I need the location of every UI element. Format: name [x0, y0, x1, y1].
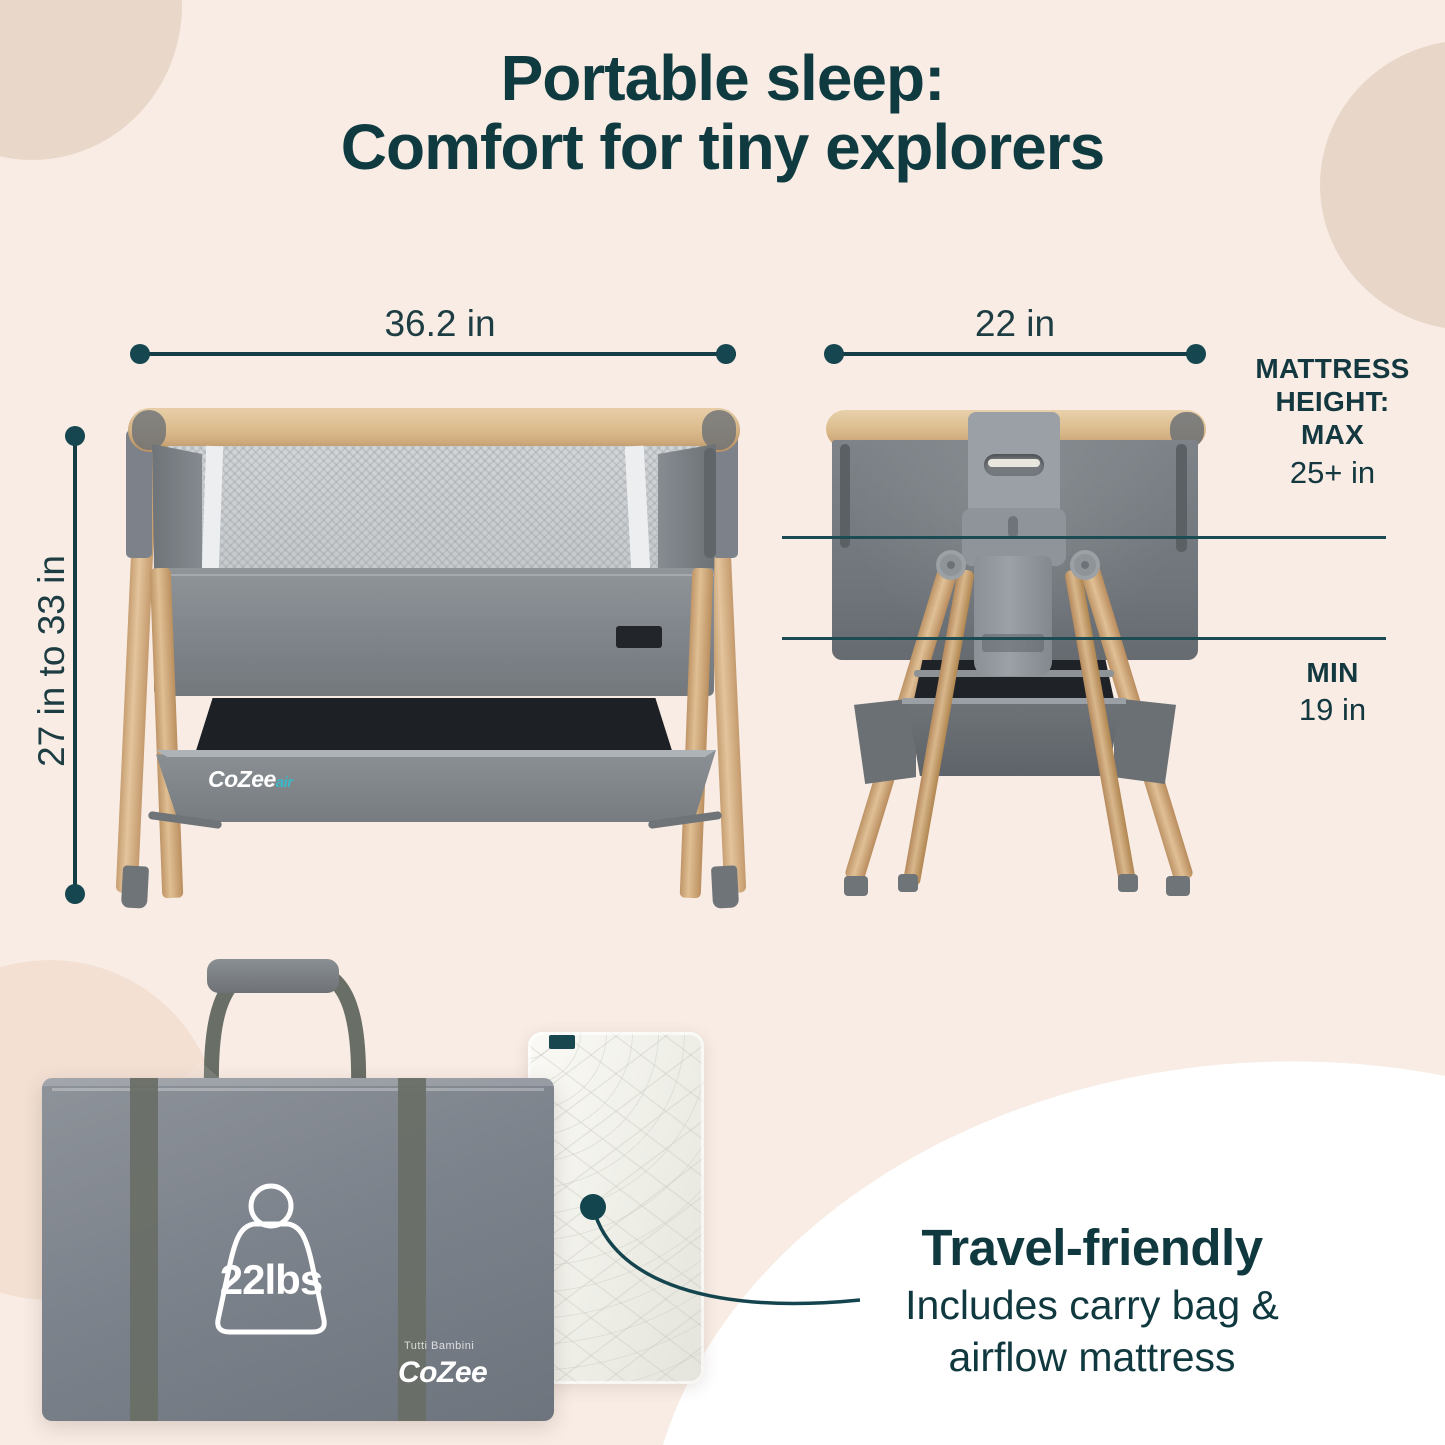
mattress-height-min-value: 19 in	[1230, 692, 1435, 728]
mattress-brand-tag	[549, 1035, 575, 1049]
crib-pivot-screw-left	[947, 561, 955, 569]
infographic-canvas: Portable sleep: Comfort for tiny explore…	[0, 0, 1445, 1445]
mattress-height-max-callout: MATTRESS HEIGHT: MAX 25+ in	[1230, 352, 1435, 491]
page-title: Portable sleep: Comfort for tiny explore…	[0, 44, 1445, 182]
crib-brand-badge	[616, 626, 662, 648]
crib-side-basket-flap-right	[1114, 698, 1176, 784]
mattress-height-max-value: 25+ in	[1230, 455, 1435, 491]
headline-line-1: Portable sleep:	[501, 42, 945, 114]
crib-foot-left	[121, 865, 149, 908]
dimension-dot-icon	[65, 884, 85, 904]
carry-bag-handle-grip	[207, 959, 339, 993]
carry-bag-strap-left	[130, 1078, 158, 1421]
crib-storage-shelf-rim	[156, 750, 716, 757]
mattress-min-height-marker	[782, 637, 1386, 640]
crib-foot-right	[711, 865, 739, 908]
width-dimension-line-side	[834, 352, 1196, 356]
weight-value-label: 22lbs	[196, 1256, 346, 1304]
width-dimension-line-front	[140, 352, 736, 356]
carry-bag-cozee-logo-text: CoZee	[398, 1356, 487, 1389]
crib-cozee-logo-text: CoZee	[208, 766, 276, 792]
headline-line-2: Comfort for tiny explorers	[0, 113, 1445, 182]
travel-friendly-subtitle-line-1: Includes carry bag &	[812, 1281, 1372, 1329]
crib-side-view-illustration	[818, 398, 1218, 898]
mattress-height-title-line-2: HEIGHT:	[1230, 385, 1435, 418]
mattress-height-min-label: MIN	[1230, 657, 1435, 689]
crib-rail-cap-right	[702, 410, 736, 450]
crib-height-adjust-pin	[1008, 516, 1018, 538]
dimension-dot-icon	[824, 344, 844, 364]
crib-side-foot-far-left	[844, 876, 868, 896]
dimension-dot-icon	[65, 426, 85, 446]
crib-center-column	[974, 556, 1052, 676]
mattress-max-height-marker	[782, 536, 1386, 539]
crib-handle-slot	[988, 459, 1040, 467]
crib-band-seam	[154, 574, 714, 576]
crib-side-basket-flap-left	[854, 698, 916, 784]
crib-side-foot-near-left	[898, 874, 918, 892]
crib-mesh-panel	[168, 446, 700, 578]
dimension-dot-icon	[1186, 344, 1206, 364]
crib-side-foot-far-right	[1166, 876, 1190, 896]
dimension-dot-icon	[130, 344, 150, 364]
leader-line-dot-icon	[580, 1194, 606, 1220]
travel-friendly-callout: Travel-friendly Includes carry bag & air…	[812, 1218, 1372, 1382]
width-label-front: 36.2 in	[0, 303, 880, 345]
height-label: 27 in to 33 in	[31, 501, 73, 821]
height-dimension-line	[73, 434, 77, 894]
width-label-side: 22 in	[830, 303, 1200, 345]
travel-friendly-title: Travel-friendly	[812, 1218, 1372, 1277]
crib-cozee-logo: CoZeeair	[208, 766, 293, 793]
dimension-dot-icon	[716, 344, 736, 364]
mattress-height-title-line-1: MATTRESS	[1230, 352, 1435, 385]
travel-friendly-subtitle-line-2: airflow mattress	[812, 1333, 1372, 1381]
crib-zipper	[704, 448, 716, 558]
carry-bag-cozee-logo: CoZee	[398, 1356, 487, 1390]
mattress-height-max-label: MAX	[1230, 418, 1435, 451]
mattress-height-min-callout: MIN 19 in	[1230, 657, 1435, 728]
crib-side-foot-near-right	[1118, 874, 1138, 892]
crib-cozee-logo-suffix: air	[276, 774, 293, 791]
crib-front-view-illustration: CoZeeair	[108, 398, 758, 898]
crib-pivot-screw-right	[1081, 561, 1089, 569]
crib-rail-cap-left	[132, 410, 166, 450]
carry-bag-top-seam	[42, 1078, 554, 1086]
carry-bag-zipper	[52, 1088, 544, 1091]
crib-side-zipper-left	[840, 444, 850, 548]
carry-bag-brand-text: Tutti Bambini	[404, 1340, 474, 1352]
